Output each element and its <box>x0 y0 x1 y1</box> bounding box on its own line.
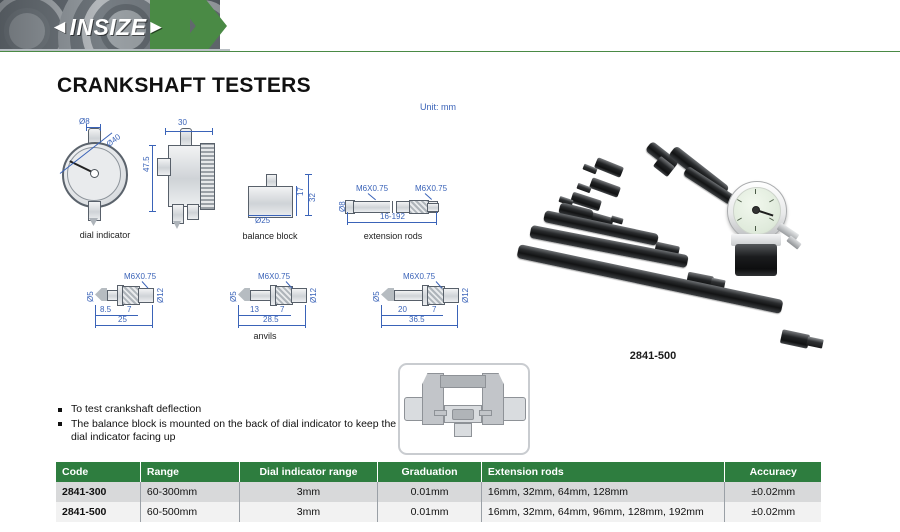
product-photo <box>495 128 895 373</box>
cell-extension-rods: 16mm, 32mm, 64mm, 128mm <box>481 482 725 502</box>
th-range: Range <box>140 462 239 482</box>
er-thread-end <box>427 203 439 212</box>
photo-rod-coupler <box>780 329 810 349</box>
insize-logo: ◄ INSIZE ► <box>38 14 178 40</box>
er-knurl <box>409 200 429 214</box>
dim-line <box>347 212 348 225</box>
dim-line <box>165 131 213 132</box>
cell-dial-indicator-range: 3mm <box>239 502 377 522</box>
dim-anvil1-tip-dia: Ø5 <box>86 291 95 302</box>
dim-dial-bore: Ø8 <box>79 117 90 126</box>
anvil-tip <box>238 288 250 301</box>
dim-line <box>149 145 156 146</box>
app-arrow-right-icon <box>479 410 492 416</box>
dim-anvil1-total: 25 <box>118 315 127 324</box>
dim-line <box>95 305 96 328</box>
dim-line <box>248 215 291 216</box>
dim-line <box>381 325 457 326</box>
feature-text: To test crankshaft deflection <box>71 403 201 415</box>
dim-bb-body-height: 17 <box>296 187 305 196</box>
caption-balance-block: balance block <box>232 231 308 241</box>
dim-dial-width: 30 <box>178 118 187 127</box>
bullet-square-icon <box>58 422 62 426</box>
cell-range: 60-300mm <box>140 482 239 502</box>
bb-body <box>248 186 293 218</box>
dim-line <box>436 212 437 225</box>
caption-dial-indicator: dial indicator <box>65 230 145 240</box>
photo-gauge-body <box>735 244 777 276</box>
product-photo-caption: 2841-500 <box>593 350 713 362</box>
dim-line <box>238 325 305 326</box>
caption-anvils: anvils <box>225 331 305 341</box>
dim-er-diameter: Ø8 <box>338 201 347 212</box>
app-gauge-face <box>452 409 474 420</box>
cell-accuracy: ±0.02mm <box>725 482 821 502</box>
feature-item: To test crankshaft deflection <box>58 403 398 417</box>
anvil-tip <box>95 288 107 301</box>
dim-line <box>296 186 297 216</box>
specifications-table: Code Range Dial indicator range Graduati… <box>56 462 821 522</box>
dim-anvil2-body-dia: Ø12 <box>309 288 318 303</box>
anvil-tip <box>381 288 394 301</box>
dim-anvil1-body-dia: Ø12 <box>156 288 165 303</box>
dim-line <box>305 215 312 216</box>
table-row: 2841-300 60-300mm 3mm 0.01mm 16mm, 32mm,… <box>56 482 821 502</box>
cell-accuracy: ±0.02mm <box>725 502 821 522</box>
dim-anvil3-a: 20 <box>398 305 407 314</box>
di-side-bezel <box>200 143 215 210</box>
di-hub <box>90 169 99 178</box>
page-header: ◄ INSIZE ► <box>0 0 900 52</box>
di-side-lug <box>157 158 171 176</box>
dim-line <box>457 305 458 328</box>
feature-list: To test crankshaft deflection The balanc… <box>58 403 398 446</box>
dim-anvil3-total: 36.5 <box>409 315 425 324</box>
cell-graduation: 0.01mm <box>378 482 482 502</box>
dim-er-thread-right: M6X0.75 <box>415 184 447 193</box>
cell-graduation: 0.01mm <box>378 502 482 522</box>
anvil-body <box>443 288 459 303</box>
anvil-neck <box>250 290 272 301</box>
dim-line <box>212 128 213 135</box>
dim-line <box>427 315 443 316</box>
photo-anvil <box>594 157 624 178</box>
th-extension-rods: Extension rods <box>481 462 725 482</box>
th-accuracy: Accuracy <box>725 462 821 482</box>
dim-anvil2-thread: M6X0.75 <box>258 272 290 281</box>
app-arrow-left-icon <box>434 410 447 416</box>
th-code: Code <box>56 462 140 482</box>
app-journal <box>440 375 486 388</box>
anvil-body <box>138 288 154 303</box>
dim-anvil2-a: 13 <box>250 305 259 314</box>
dim-line <box>238 305 239 328</box>
feature-item: The balance block is mounted on the back… <box>58 418 398 445</box>
dim-anvil3-b: 7 <box>432 305 436 314</box>
dim-anvil1-thread: M6X0.75 <box>124 272 156 281</box>
cell-range: 60-500mm <box>140 502 239 522</box>
dim-anvil3-thread: M6X0.75 <box>403 272 435 281</box>
di-side-contact <box>173 221 181 229</box>
table-header-row: Code Range Dial indicator range Graduati… <box>56 462 821 482</box>
dim-line <box>100 124 101 131</box>
cell-extension-rods: 16mm, 32mm, 64mm, 96mm, 128mm, 192mm <box>481 502 725 522</box>
logo-arrow-right-icon: ► <box>147 18 166 37</box>
dim-line <box>165 128 166 135</box>
dim-line <box>381 305 382 328</box>
dim-anvil2-total: 28.5 <box>263 315 279 324</box>
dim-anvil2-b: 7 <box>280 305 284 314</box>
dim-line <box>149 211 156 212</box>
th-graduation: Graduation <box>378 462 482 482</box>
dim-anvil1-a: 8.5 <box>100 305 111 314</box>
di-contact-point <box>89 218 98 226</box>
header-green-rule <box>0 51 900 52</box>
dim-line <box>86 124 87 131</box>
unit-label: Unit: mm <box>420 102 456 112</box>
break-mark <box>390 199 392 213</box>
app-gauge-stand <box>454 423 472 437</box>
di-side-body <box>168 145 203 207</box>
leader-line <box>368 193 376 200</box>
photo-rod-tip <box>806 336 824 348</box>
gauge-tick <box>755 226 756 231</box>
dim-line <box>152 145 153 212</box>
table-row: 2841-500 60-500mm 3mm 0.01mm 16mm, 32mm,… <box>56 502 821 522</box>
logo-arrow-left-icon: ◄ <box>50 18 69 37</box>
cell-code: 2841-500 <box>56 502 140 522</box>
page-title: CRANKSHAFT TESTERS <box>57 74 311 98</box>
dim-anvil3-body-dia: Ø12 <box>461 288 470 303</box>
dim-bb-diameter: Ø25 <box>255 216 270 225</box>
di-side-stem-2 <box>187 204 199 220</box>
bullet-square-icon <box>58 408 62 412</box>
photo-anvil <box>589 177 621 198</box>
application-diagram <box>398 363 530 455</box>
anvil-body <box>291 288 307 303</box>
dim-line <box>86 127 101 128</box>
photo-gauge-hub <box>752 206 760 214</box>
dim-line <box>308 174 309 216</box>
dim-er-length: 16-192 <box>380 212 405 221</box>
dim-line <box>347 222 437 223</box>
dim-anvil1-b: 7 <box>127 305 131 314</box>
photo-gauge-screw <box>786 235 801 249</box>
dim-line <box>95 325 152 326</box>
th-dial-indicator-range: Dial indicator range <box>239 462 377 482</box>
anvil-neck <box>394 290 424 301</box>
feature-text: The balance block is mounted on the back… <box>71 418 396 444</box>
dim-er-thread-left: M6X0.75 <box>356 184 388 193</box>
leader-line <box>425 193 432 200</box>
dim-line <box>305 305 306 328</box>
cell-dial-indicator-range: 3mm <box>239 482 377 502</box>
gauge-tick <box>755 189 756 194</box>
dim-line <box>152 305 153 328</box>
dim-dial-height: 47.5 <box>142 156 151 172</box>
dim-anvil3-tip-dia: Ø5 <box>372 291 381 302</box>
cell-code: 2841-300 <box>56 482 140 502</box>
dim-bb-total-height: 32 <box>308 193 317 202</box>
dim-line <box>305 174 312 175</box>
dim-anvil2-tip-dia: Ø5 <box>229 291 238 302</box>
logo-text: INSIZE <box>69 14 146 41</box>
caption-extension-rods: extension rods <box>352 231 434 241</box>
